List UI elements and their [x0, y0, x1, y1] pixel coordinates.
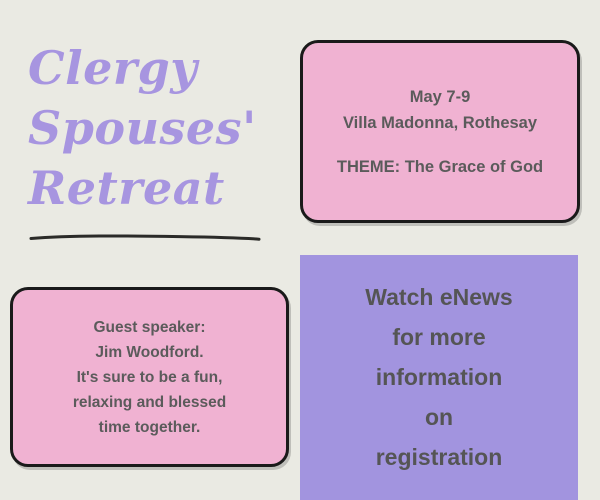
enews-line-4: on [425, 397, 453, 437]
speaker-note-line-1: It's sure to be a fun, [77, 365, 223, 390]
title-line-1: Clergy [28, 38, 278, 98]
poster-title: Clergy Spouses' Retreat [28, 38, 278, 218]
speaker-note-line-2: relaxing and blessed [73, 390, 226, 415]
poster-canvas: Clergy Spouses' Retreat May 7-9 Villa Ma… [0, 0, 600, 500]
event-location: Villa Madonna, Rothesay [343, 110, 537, 136]
title-line-2: Spouses' [28, 98, 278, 158]
enews-registration-panel: Watch eNews for more information on regi… [300, 255, 578, 500]
speaker-note-line-3: time together. [99, 415, 201, 440]
enews-line-2: for more [392, 317, 485, 357]
guest-speaker-card: Guest speaker: Jim Woodford. It's sure t… [10, 287, 289, 467]
enews-line-1: Watch eNews [365, 277, 512, 317]
enews-line-5: registration [376, 437, 503, 477]
title-line-3: Retreat [28, 158, 278, 218]
event-dates: May 7-9 [410, 84, 471, 110]
speaker-label: Guest speaker: [94, 315, 206, 340]
speaker-name: Jim Woodford. [95, 340, 203, 365]
event-theme: THEME: The Grace of God [337, 154, 543, 180]
event-details-card: May 7-9 Villa Madonna, Rothesay THEME: T… [300, 40, 580, 223]
enews-line-3: information [376, 357, 503, 397]
title-underline-icon [30, 232, 260, 242]
